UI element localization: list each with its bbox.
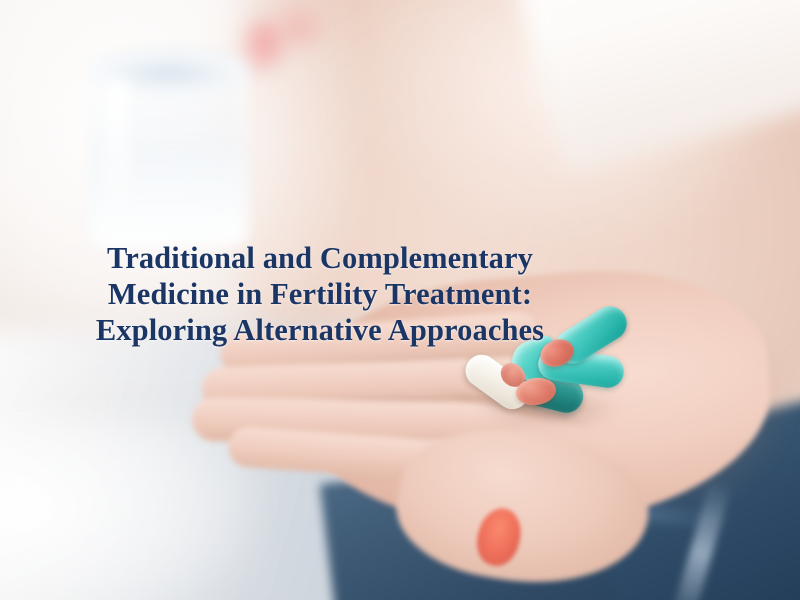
denim-fold xyxy=(430,487,730,529)
finger-little xyxy=(227,426,519,486)
white-capsule xyxy=(459,348,534,415)
teal-capsule-lower xyxy=(536,346,626,390)
title-line-3: Exploring Alternative Approaches xyxy=(0,312,640,348)
finger-crease-3 xyxy=(198,431,508,447)
cool-grey-highlight-left xyxy=(0,420,260,600)
denim-jeans-right xyxy=(580,389,800,600)
water-glass-body xyxy=(88,58,248,243)
belly-highlight xyxy=(360,0,780,240)
water-glass-liquid xyxy=(92,150,244,246)
water-glass-highlight xyxy=(104,78,130,218)
coral-tablet-2 xyxy=(514,375,557,407)
thumb xyxy=(387,411,659,600)
finger-crease-1 xyxy=(222,352,532,373)
coral-tablet-3 xyxy=(496,358,530,392)
dark-teal-capsule xyxy=(491,362,587,417)
blurred-fingernail-top-left xyxy=(242,18,286,74)
denim-jeans xyxy=(320,421,800,600)
finger-middle xyxy=(201,356,532,411)
finger-crease-2 xyxy=(204,395,524,406)
cool-grey-background-left xyxy=(0,330,480,600)
thumb-nail-coral xyxy=(472,504,527,570)
hand-edge-shadow xyxy=(620,300,790,510)
denim-seam xyxy=(670,478,732,600)
title-line-1: Traditional and Complementary xyxy=(0,240,640,276)
blurred-finger-top-left xyxy=(272,0,326,48)
palm-crease xyxy=(431,386,599,429)
pill-cluster-shadow xyxy=(480,392,620,426)
title-line-2: Medicine in Fertility Treatment: xyxy=(0,276,640,312)
finger-ring xyxy=(192,397,523,447)
white-shirt-fabric xyxy=(489,0,800,174)
article-hero-banner: Traditional and Complementary Medicine i… xyxy=(0,0,800,600)
banner-title: Traditional and Complementary Medicine i… xyxy=(0,240,640,348)
water-glass-rim xyxy=(86,48,252,96)
